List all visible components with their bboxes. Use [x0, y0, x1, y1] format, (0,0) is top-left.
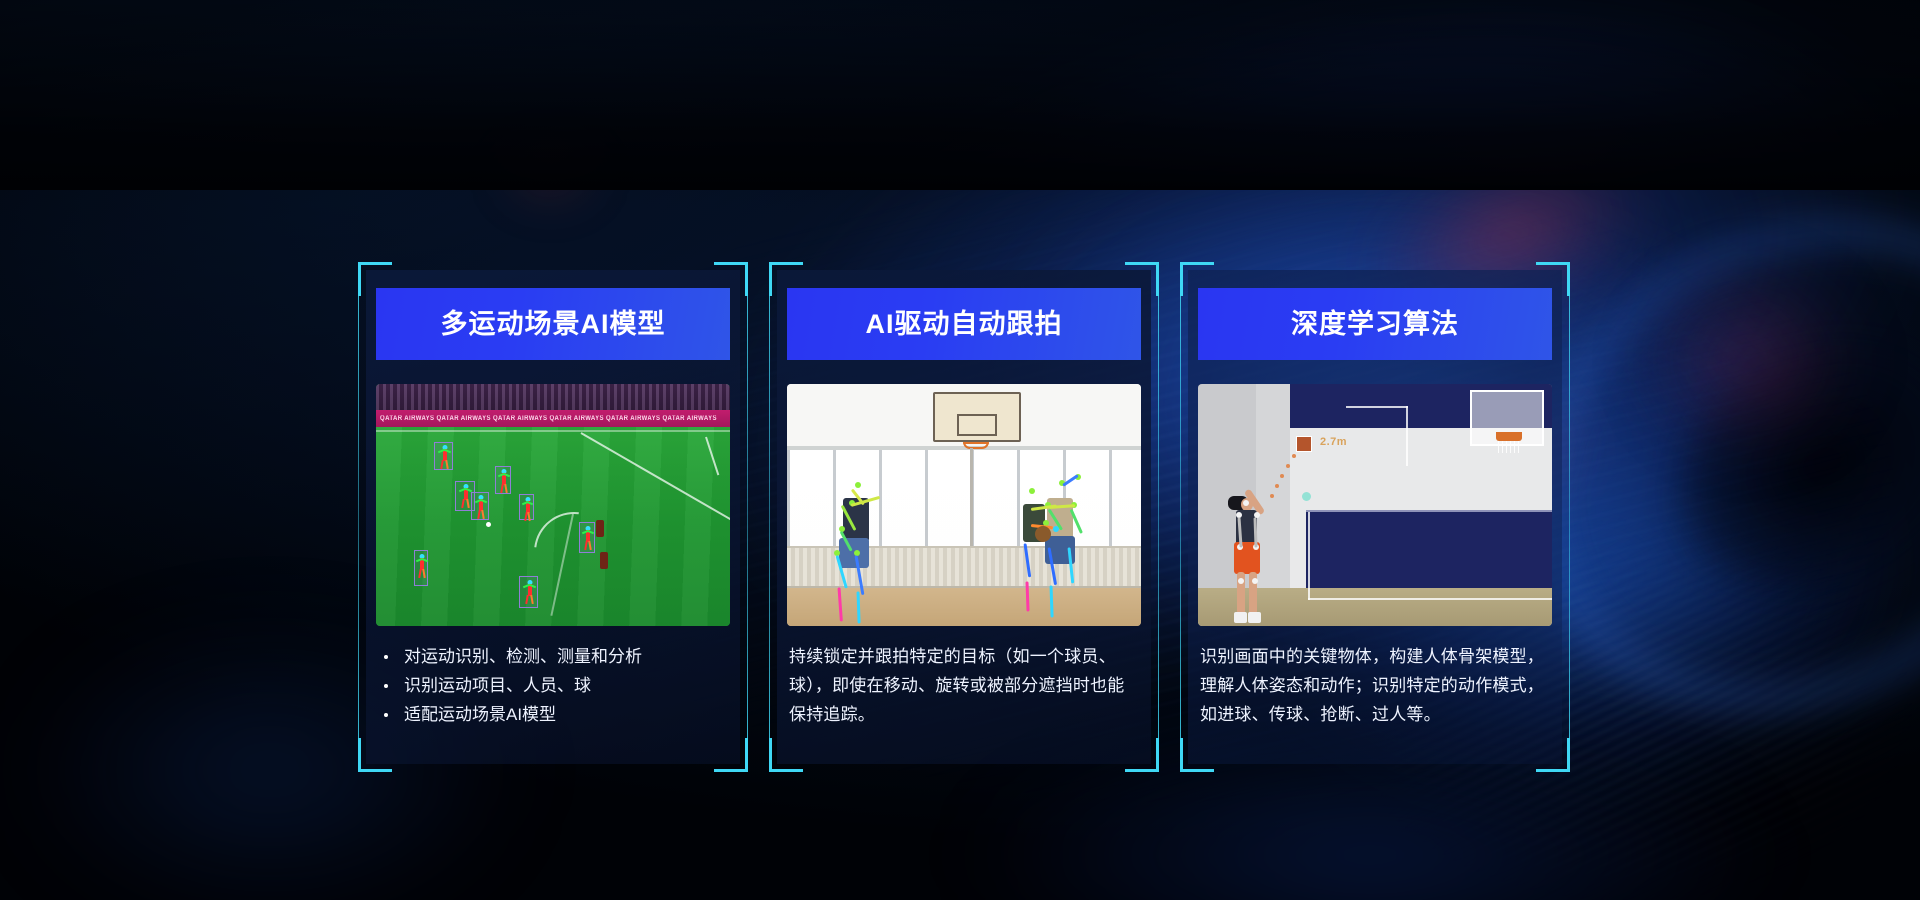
basketball-rim [1496, 432, 1522, 441]
detection-box [434, 442, 453, 470]
pose-skeleton [438, 445, 451, 469]
player-pose-right-front [1009, 484, 1063, 626]
court-point-marker [1302, 492, 1311, 501]
distance-label: 2.7m [1320, 436, 1347, 448]
pose-skeleton [582, 526, 594, 551]
pose-joint [1029, 488, 1035, 494]
pose-skeleton [523, 580, 536, 606]
card-description: 识别画面中的关键物体，构建人体骨架模型，理解人体姿态和动作；识别特定的动作模式，… [1198, 642, 1552, 729]
sponsor-banner-text: QATAR AIRWAYS QATAR AIRWAYS QATAR AIRWAY… [376, 415, 717, 422]
pose-joint [1243, 500, 1249, 506]
hud-line-vertical [1406, 406, 1408, 466]
pose-skeleton [475, 495, 487, 518]
card-body: 识别画面中的关键物体，构建人体骨架模型，理解人体姿态和动作；识别特定的动作模式，… [1198, 642, 1552, 729]
list-item: 适配运动场景AI模型 [376, 700, 730, 729]
card-body: 对运动识别、检测、测量和分析 识别运动项目、人员、球 适配运动场景AI模型 [376, 642, 730, 729]
hoop-support-pole [970, 448, 973, 546]
card-description: 持续锁定并跟拍特定的目标（如一个球员、球），即使在移动、旋转或被部分遮挡时也能保… [787, 642, 1141, 729]
pose-skeleton [522, 497, 533, 518]
detection-box [579, 522, 595, 553]
pose-skeleton [498, 469, 510, 492]
page-stage: 多运动场景AI模型 QATAR AIRWAYS QATAR AIRWAYS QA… [0, 0, 1920, 900]
card-body: 持续锁定并跟拍特定的目标（如一个球员、球），即使在移动、旋转或被部分遮挡时也能保… [787, 642, 1141, 729]
soccer-pitch-image: QATAR AIRWAYS QATAR AIRWAYS QATAR AIRWAY… [376, 384, 730, 626]
card-left-rail [1180, 292, 1181, 742]
gym-wall-padding [1306, 510, 1552, 588]
pitch-line-touch [376, 430, 730, 432]
pose-bone [1062, 474, 1079, 487]
card-left-rail [358, 292, 359, 742]
card-panel: 深度学习算法 [1188, 270, 1562, 764]
card-title: 深度学习算法 [1291, 311, 1459, 338]
pose-joint [855, 482, 861, 488]
pose-bone [838, 587, 843, 621]
detection-box [414, 550, 428, 586]
card-panel: AI驱动自动跟拍 [777, 270, 1151, 764]
hud-line-court-left [1308, 512, 1310, 600]
detection-box [519, 576, 538, 608]
basketball-net [1498, 441, 1520, 453]
pose-bone [1024, 543, 1032, 577]
feature-card-multi-sport-ai-model[interactable]: 多运动场景AI模型 QATAR AIRWAYS QATAR AIRWAYS QA… [358, 262, 748, 772]
undetected-player [596, 520, 604, 537]
shot-trajectory-thumbnail[interactable]: 2.7m [1198, 384, 1552, 626]
stadium-crowd [376, 384, 730, 410]
player-pose-left [829, 480, 889, 626]
feature-card-deep-learning-algorithm[interactable]: 深度学习算法 [1180, 262, 1570, 772]
pose-joint [1238, 578, 1244, 584]
gym-interior-image [787, 384, 1141, 626]
pose-joint [1053, 526, 1059, 532]
player-shooting [1224, 492, 1266, 626]
gym-court-image: 2.7m [1198, 384, 1552, 626]
feature-card-ai-auto-tracking[interactable]: AI驱动自动跟拍 [769, 262, 1159, 772]
card-title-bar: 深度学习算法 [1198, 288, 1552, 360]
card-panel: 多运动场景AI模型 QATAR AIRWAYS QATAR AIRWAYS QA… [366, 270, 740, 764]
detection-box [495, 466, 511, 494]
ball-tracking-box [1296, 436, 1312, 452]
basketball-rim [963, 442, 989, 449]
card-right-rail [1158, 292, 1159, 742]
backboard-square [957, 414, 997, 436]
card-title: AI驱动自动跟拍 [866, 311, 1063, 338]
feature-card-group: 多运动场景AI模型 QATAR AIRWAYS QATAR AIRWAYS QA… [0, 0, 1920, 900]
player-shoe [1248, 612, 1261, 623]
detection-box [471, 492, 489, 520]
card-title-bar: 多运动场景AI模型 [376, 288, 730, 360]
list-item: 对运动识别、检测、测量和分析 [376, 642, 730, 671]
undetected-player [600, 552, 608, 569]
player-shoe [1234, 612, 1247, 623]
detection-box [519, 494, 534, 520]
card-title: 多运动场景AI模型 [441, 311, 666, 338]
basketball-backboard [933, 392, 1021, 442]
card-right-rail [747, 292, 748, 742]
card-title-bar: AI驱动自动跟拍 [787, 288, 1141, 360]
card-right-rail [1569, 292, 1570, 742]
hud-line-court-bottom [1308, 598, 1552, 600]
sponsor-banner: QATAR AIRWAYS QATAR AIRWAYS QATAR AIRWAY… [376, 410, 730, 427]
soccer-detection-thumbnail[interactable]: QATAR AIRWAYS QATAR AIRWAYS QATAR AIRWAY… [376, 384, 730, 626]
pose-bone [1026, 581, 1030, 611]
basketball-pose-thumbnail[interactable] [787, 384, 1141, 626]
pose-skeleton [416, 554, 428, 583]
pose-joint [1252, 578, 1258, 584]
feature-bullet-list: 对运动识别、检测、测量和分析 识别运动项目、人员、球 适配运动场景AI模型 [376, 642, 730, 729]
list-item: 识别运动项目、人员、球 [376, 671, 730, 700]
hud-line-horizontal [1346, 406, 1408, 408]
basketball [1035, 526, 1051, 542]
soccer-ball [486, 522, 491, 527]
pose-bone [857, 591, 861, 623]
card-left-rail [769, 292, 770, 742]
